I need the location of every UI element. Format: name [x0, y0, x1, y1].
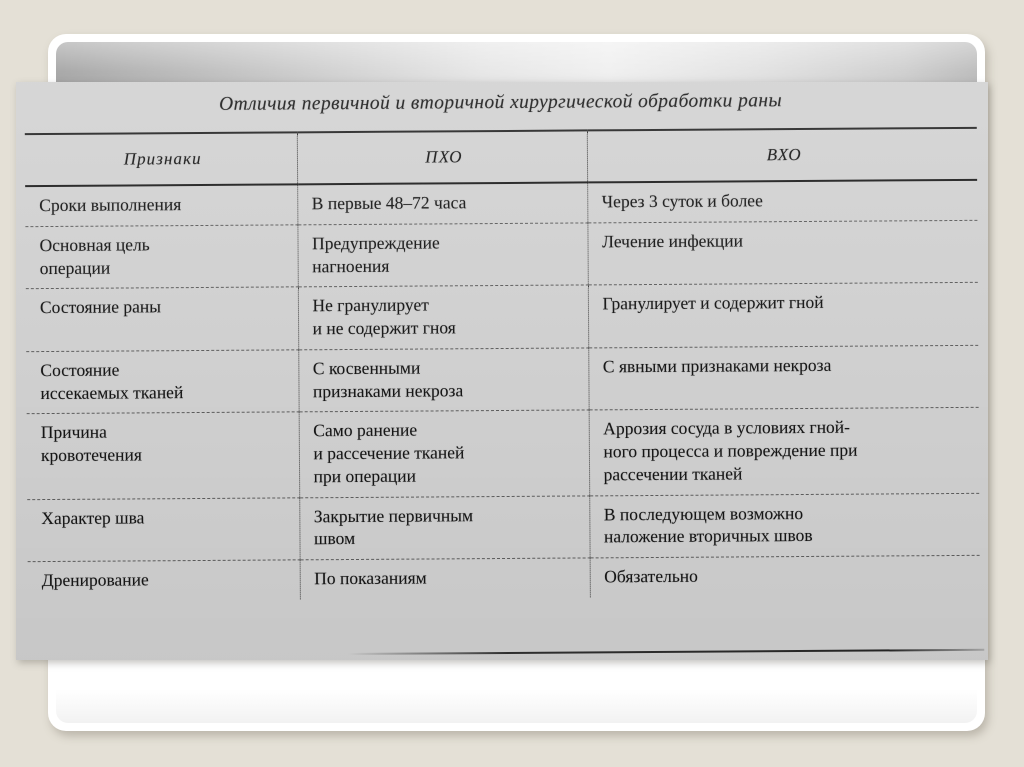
cell-text-line: По показаниям: [314, 566, 579, 591]
cell-text-line: Состояние: [40, 357, 288, 381]
scan-ink-artifact: [348, 649, 984, 655]
column-header-signs: Признаки: [25, 132, 297, 186]
cell-sign: Дренирование: [28, 560, 300, 601]
cell-pho: Предупреждениенагноения: [297, 223, 587, 287]
table-row: ПричинакровотеченияСамо ранениеи рассече…: [27, 408, 980, 500]
cell-text-line: С явными признаками некроза: [603, 353, 969, 378]
cell-sign: Состояниеиссекаемых тканей: [26, 350, 298, 414]
cell-text-line: В первые 48–72 часа: [312, 191, 577, 216]
cell-pho: По показаниям: [300, 558, 590, 599]
cell-sign: Характер шва: [27, 497, 299, 561]
cell-text-line: Дренирование: [42, 568, 290, 592]
cell-pho: С косвеннымипризнаками некроза: [298, 348, 588, 412]
table-row: ДренированиеПо показаниямОбязательно: [28, 555, 980, 601]
cell-text-line: операции: [40, 255, 288, 279]
cell-sign: Основная цельоперации: [25, 225, 297, 289]
page-title: Отличия первичной и вторичной хирургичес…: [16, 89, 987, 117]
cell-text-line: Сроки выполнения: [39, 193, 287, 217]
cell-text-line: Лечение инфекции: [602, 228, 968, 253]
cell-pho: Само ранениеи рассечение тканейпри опера…: [299, 410, 590, 497]
cell-text-line: Состояние раны: [40, 295, 288, 319]
cell-sign: Сроки выполнения: [25, 184, 297, 226]
cell-vho: В последующем возможноналожение вторичны…: [589, 493, 979, 558]
cell-text-line: Не гранулирует: [312, 293, 577, 318]
cell-text-line: и рассечение тканей: [313, 441, 578, 466]
cell-text-line: и не содержит гноя: [313, 316, 578, 341]
comparison-table: Признаки ПХО ВХО Сроки выполненияВ первы…: [25, 127, 980, 601]
cell-text-line: рассечении тканей: [603, 461, 969, 486]
table-row: Состояние раныНе гранулируети не содержи…: [26, 283, 978, 352]
cell-pho: В первые 48–72 часа: [297, 183, 587, 225]
cell-vho: С явными признаками некроза: [588, 345, 978, 410]
cell-text-line: иссекаемых тканей: [40, 380, 288, 404]
table-row: Основная цельоперацииПредупреждениенагно…: [25, 220, 977, 289]
cell-text-line: Обязательно: [604, 563, 970, 588]
cell-text-line: С косвенными: [313, 355, 578, 380]
cell-pho: Закрытие первичнымшвом: [299, 496, 589, 560]
table-row: Сроки выполненияВ первые 48–72 часаЧерез…: [25, 180, 977, 227]
cell-pho: Не гранулируети не содержит гноя: [298, 285, 588, 349]
cell-text-line: В последующем возможно: [604, 500, 970, 525]
cell-text-line: швом: [314, 526, 579, 551]
cell-vho: Лечение инфекции: [587, 220, 977, 285]
cell-vho: Обязательно: [590, 555, 980, 597]
cell-text-line: Закрытие первичным: [314, 503, 579, 528]
cell-text-line: нагноения: [312, 253, 577, 278]
scan-content: Отличия первичной и вторичной хирургичес…: [16, 82, 988, 660]
cell-sign: Состояние раны: [26, 287, 298, 351]
cell-text-line: при операции: [314, 463, 579, 488]
cell-text-line: Характер шва: [41, 505, 289, 529]
cell-text-line: Гранулирует и содержит гной: [602, 290, 968, 315]
cell-text-line: Само ранение: [313, 418, 578, 443]
cell-text-line: ного процесса и повреждение при: [603, 438, 969, 463]
cell-vho: Аррозия сосуда в условиях гной-ного проц…: [589, 408, 980, 496]
cell-text-line: Через 3 суток и более: [602, 188, 968, 213]
column-header-pho: ПХО: [297, 130, 587, 184]
cell-vho: Гранулирует и содержит гной: [588, 283, 978, 348]
table-header: Признаки ПХО ВХО: [25, 128, 977, 186]
cell-sign: Причинакровотечения: [27, 412, 300, 499]
cell-text-line: Основная цель: [39, 232, 287, 256]
table-row: Характер шваЗакрытие первичнымшвомВ посл…: [27, 493, 979, 562]
table-body: Сроки выполненияВ первые 48–72 часаЧерез…: [25, 180, 980, 601]
scanned-page-image: Отличия первичной и вторичной хирургичес…: [16, 82, 988, 660]
column-header-vho: ВХО: [587, 128, 977, 183]
table-header-row: Признаки ПХО ВХО: [25, 128, 977, 186]
cell-text-line: Предупреждение: [312, 230, 577, 255]
cell-text-line: Аррозия сосуда в условиях гной-: [603, 415, 969, 440]
cell-vho: Через 3 суток и более: [587, 180, 977, 223]
cell-text-line: Причина: [41, 420, 289, 444]
cell-text-line: кровотечения: [41, 443, 289, 467]
cell-text-line: наложение вторичных швов: [604, 523, 970, 548]
cell-text-line: признаками некроза: [313, 378, 578, 403]
table-row: Состояниеиссекаемых тканейС косвеннымипр…: [26, 345, 978, 414]
